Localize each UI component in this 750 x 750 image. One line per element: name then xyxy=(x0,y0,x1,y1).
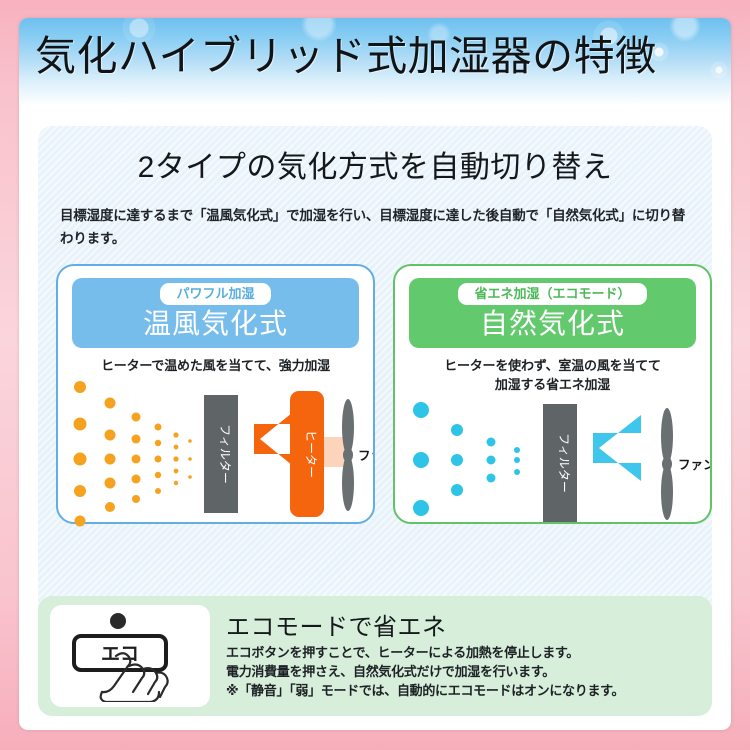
card-description: ヒーターを使わず、室温の風を当てて 加湿する省エネ加湿 xyxy=(395,356,710,394)
method-cards: パワフル加湿 温風気化式 ヒーターで温めた風を当てて、強力加湿 xyxy=(56,264,694,524)
page-title: 気化ハイブリッド式加湿器の特徴 xyxy=(35,30,657,82)
card-warm-air-vaporization: パワフル加湿 温風気化式 ヒーターで温めた風を当てて、強力加湿 xyxy=(56,264,375,524)
filter-label: フィルター xyxy=(557,433,571,493)
badge-title: 温風気化式 xyxy=(72,307,359,341)
eco-line-2: 電力消費量を押さえ、自然気化式だけで加湿を行います。 xyxy=(226,662,624,681)
card-description-line2: 加湿する省エネ加湿 xyxy=(395,375,710,394)
eco-title: エコモードで省エネ xyxy=(226,613,624,643)
filter-label: フィルター xyxy=(218,424,232,484)
card-badge-warm: パワフル加湿 温風気化式 xyxy=(72,278,359,348)
eco-text-block: エコモードで省エネ エコボタンを押すことで、ヒーターによる加熱を停止します。 電… xyxy=(226,613,624,700)
heater-label: ヒーター xyxy=(304,430,318,478)
fan-icon xyxy=(342,399,354,511)
header-banner: 気化ハイブリッド式加湿器の特徴 xyxy=(19,18,731,106)
airflow-arrow-cyan xyxy=(593,415,641,481)
diagram-warm-air: フィルター ヒーター xyxy=(58,379,373,529)
page-frame: 気化ハイブリッド式加湿器の特徴 2タイプの気化方式を自動切り替え 目標湿度に達す… xyxy=(0,0,750,750)
section-description: 目標湿度に達するまで「温風気化式」で加湿を行い、目標湿度に達した後自動で「自然気… xyxy=(60,204,690,250)
eco-line-1: エコボタンを押すことで、ヒーターによる加熱を停止します。 xyxy=(226,643,624,662)
eco-mode-panel: エコ エコモードで省エネ エコボタンを押すことで、ヒーターによる加熱を停止します… xyxy=(38,596,712,716)
card-description: ヒーターで温めた風を当てて、強力加湿 xyxy=(58,356,373,375)
card-description-line1: ヒーターを使わず、室温の風を当てて xyxy=(395,356,710,375)
diagram-natural: フィルター ファン xyxy=(395,398,710,528)
badge-subtitle: パワフル加湿 xyxy=(160,283,270,305)
section-title: 2タイプの気化方式を自動切り替え xyxy=(38,126,712,188)
eco-line-3: ※「静音」「弱」モードでは、自動的にエコモードはオンになります。 xyxy=(226,681,624,700)
badge-subtitle: 省エネ加湿（エコモード） xyxy=(458,283,646,305)
page-inner: 気化ハイブリッド式加湿器の特徴 2タイプの気化方式を自動切り替え 目標湿度に達す… xyxy=(19,18,731,730)
fan-icon xyxy=(661,408,673,520)
card-natural-vaporization: 省エネ加湿（エコモード） 自然気化式 ヒーターを使わず、室温の風を当てて 加湿す… xyxy=(393,264,712,524)
indicator-led-icon xyxy=(110,613,126,629)
fan-label: ファン xyxy=(358,449,373,463)
badge-title: 自然気化式 xyxy=(409,307,696,341)
card-badge-natural: 省エネ加湿（エコモード） 自然気化式 xyxy=(409,278,696,348)
mist-dots-orange xyxy=(74,381,192,527)
heat-glow xyxy=(324,437,346,467)
fan-label: ファン xyxy=(678,458,710,472)
mist-dots-cyan xyxy=(413,402,520,516)
eco-button-illustration: エコ xyxy=(50,605,210,707)
